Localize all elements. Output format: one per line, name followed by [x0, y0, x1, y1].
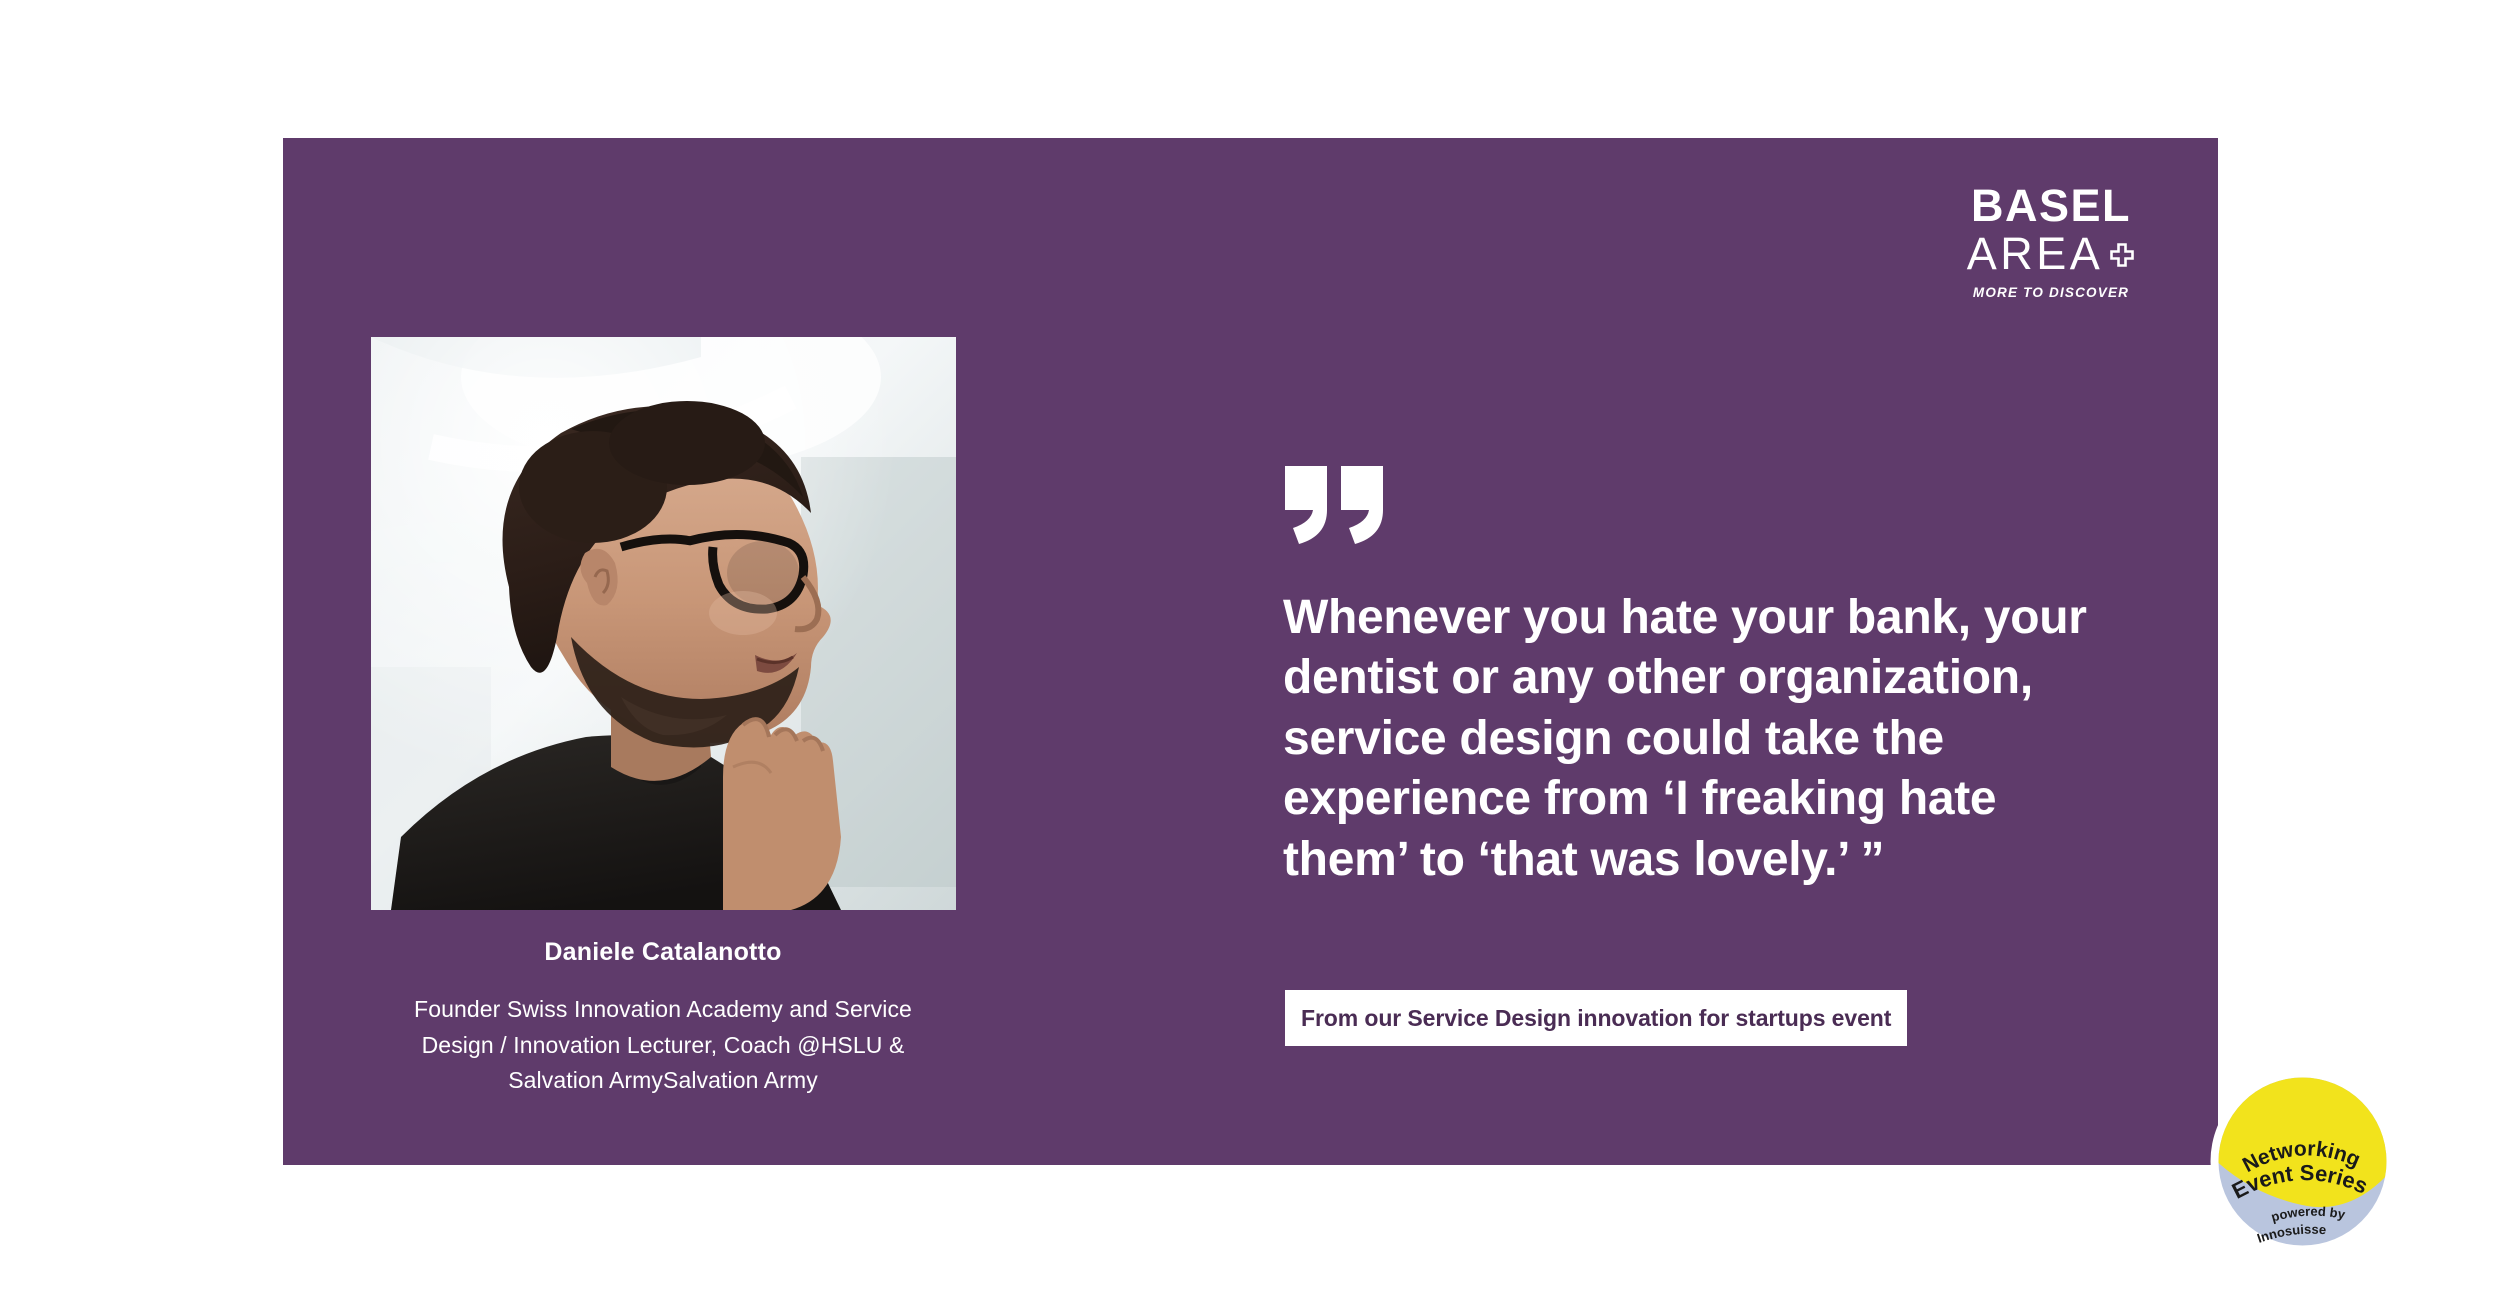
logo-tagline: MORE TO DISCOVER	[1956, 285, 2146, 300]
quotation-mark-icon	[1283, 466, 1387, 544]
quote-line-2: dentist or any other organization,	[1283, 648, 2213, 708]
quote-text: Whenever you hate your bank, your dentis…	[1283, 588, 2213, 890]
speaker-title: Founder Swiss Innovation Academy and Ser…	[353, 992, 973, 1099]
networking-event-series-badge: Networking Event Series powered by Innos…	[2206, 1065, 2399, 1258]
quote-card: BASEL AREA MORE TO DISCOVER	[283, 138, 2218, 1165]
quote-line-3: service design could take the	[1283, 709, 2213, 769]
swiss-cross-icon	[2109, 243, 2135, 274]
event-caption-label: From our Service Design innovation for s…	[1301, 1005, 1891, 1032]
logo-area-row: AREA	[1956, 231, 2146, 276]
speaker-name: Daniele Catalanotto	[353, 938, 973, 967]
logo-basel-text: BASEL	[1956, 183, 2146, 228]
speaker-title-line-1: Founder Swiss Innovation Academy and Ser…	[353, 992, 973, 1028]
event-caption: From our Service Design innovation for s…	[1285, 990, 1907, 1046]
logo-area-text: AREA	[1967, 231, 2104, 276]
basel-area-logo: BASEL AREA MORE TO DISCOVER	[1956, 183, 2146, 300]
speaker-attribution: Daniele Catalanotto Founder Swiss Innova…	[353, 938, 973, 1099]
quote-line-5: them’ to ‘that was lovely.’ ”	[1283, 830, 2213, 890]
speaker-photo	[371, 337, 956, 910]
speaker-title-line-2: Design / Innovation Lecturer, Coach @HSL…	[353, 1028, 973, 1064]
speaker-title-line-3: Salvation ArmySalvation Army	[353, 1063, 973, 1099]
quote-line-4: experience from ‘I freaking hate	[1283, 769, 2213, 829]
quote-line-1: Whenever you hate your bank, your	[1283, 588, 2213, 648]
